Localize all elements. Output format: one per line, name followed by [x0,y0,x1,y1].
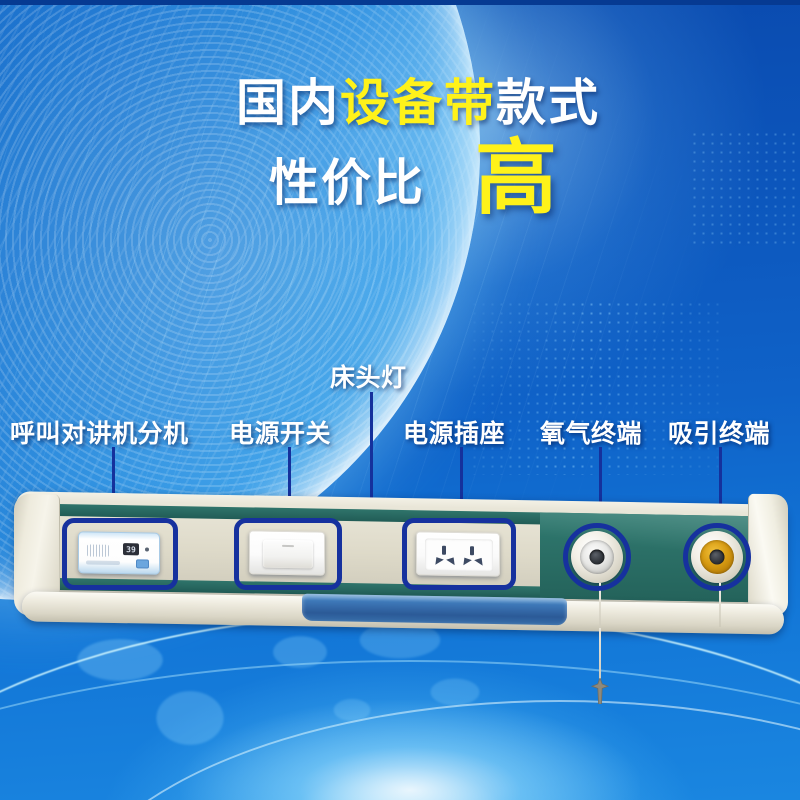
panel-slider-rail-segment[interactable] [302,594,567,626]
headline-line-2: 性价比 高 [0,140,800,218]
callout-label-suction-terminal: 吸引终端 [668,414,770,450]
highlight-circle-suction [683,523,751,591]
promo-banner: 国内设备带款式 性价比 高 呼叫对讲机分机 电源开关 床头灯 电源插座 氧气终端… [0,0,800,800]
headline-text-domestic: 国内 [236,74,340,132]
callout-label-oxygen-terminal: 氧气终端 [540,414,642,450]
bottom-glow [180,700,640,800]
top-edge-bar [0,0,800,5]
highlight-box-power-socket [402,518,516,590]
panel-end-cap-right [748,494,788,617]
highlight-box-power-switch [234,518,342,590]
callout-label-power-socket: 电源插座 [403,414,505,450]
headline-text-equipment-belt: 设备带 [340,74,496,132]
headline-text-high: 高 [475,140,559,218]
headline-text-value-ratio: 性价比 [269,143,425,215]
highlight-box-intercom [62,518,178,590]
callout-label-intercom: 呼叫对讲机分机 [10,414,189,450]
headline-line-1: 国内设备带款式 [0,78,800,128]
headline-block: 国内设备带款式 性价比 高 [0,78,800,218]
headline-text-style: 款式 [496,74,600,132]
highlight-circle-oxygen [563,523,631,591]
callout-label-power-switch: 电源开关 [229,414,331,450]
pull-cord-handle[interactable] [590,678,610,704]
callout-label-bed-lamp: 床头灯 [330,358,407,394]
